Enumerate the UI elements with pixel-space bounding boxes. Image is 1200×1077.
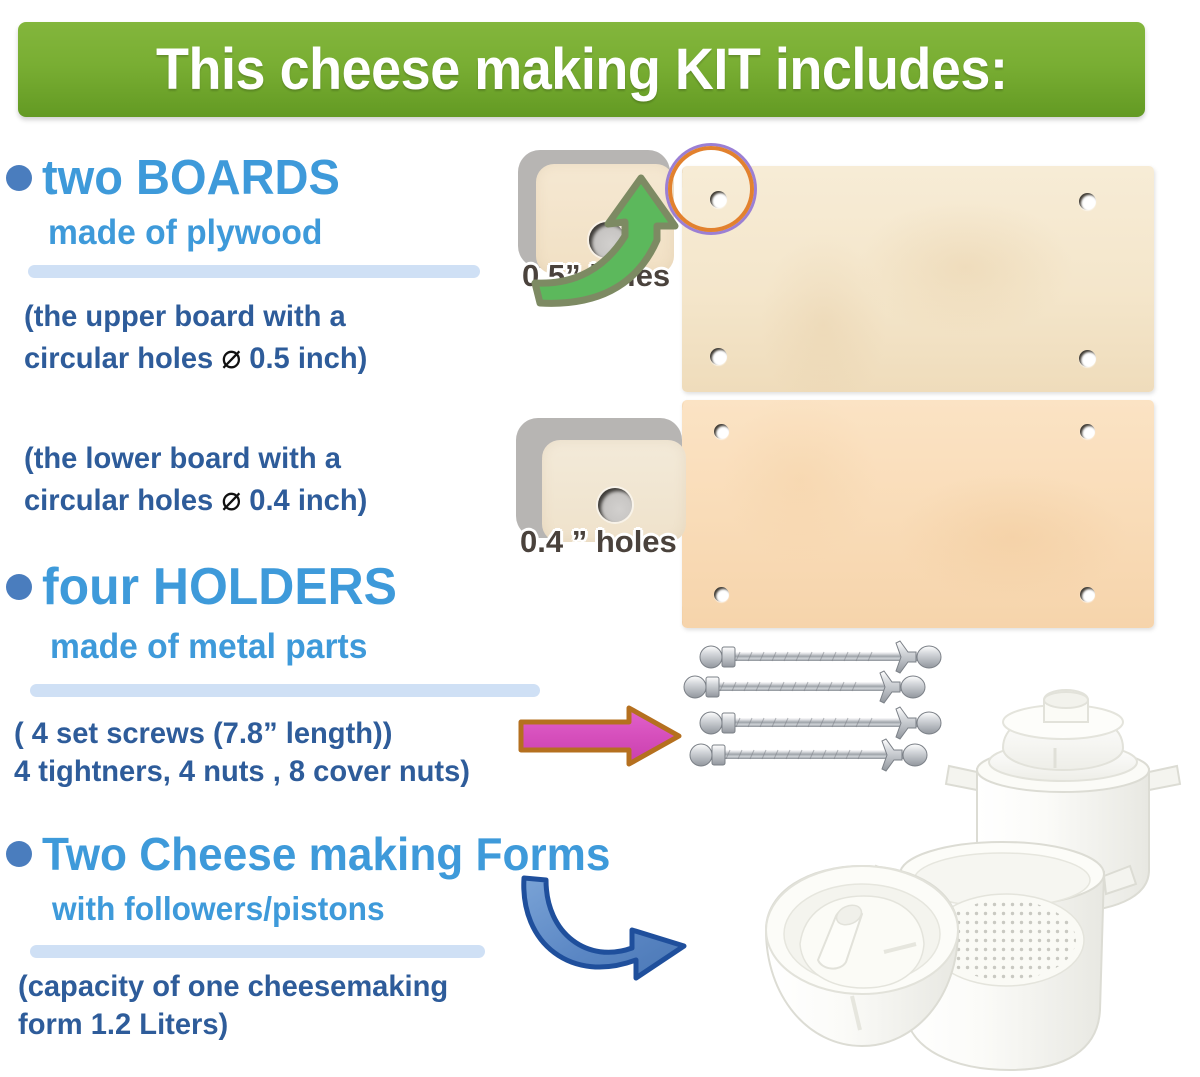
set-screw-assembly <box>690 739 927 771</box>
board-hole <box>1080 587 1095 602</box>
swatch-hole <box>589 222 625 258</box>
board-hole <box>1079 193 1096 210</box>
bullet-item-boards: two BOARDS <box>6 150 352 206</box>
body-capacity: (capacity of one cheesemaking form 1.2 L… <box>18 968 581 1045</box>
body-line-2-pre: circular holes <box>24 484 221 517</box>
bullet-dot-icon <box>6 841 32 867</box>
subheading-made-of-plywood: made of plywood <box>48 213 322 253</box>
board-hole <box>1080 424 1095 439</box>
subheading-made-of-metal-parts: made of metal parts <box>50 627 367 667</box>
diameter-symbol-icon: ⌀ <box>221 337 241 377</box>
section-divider-2 <box>30 684 540 697</box>
heading-two-boards: two BOARDS <box>42 150 340 206</box>
set-screws-group <box>684 641 941 771</box>
heading-two-forms: Two Cheese making Forms <box>42 827 611 881</box>
body-line-1: (the lower board with a <box>24 442 341 475</box>
callout-lower-hole: 0.4 ” holes <box>516 418 706 568</box>
heading-four-holders: four HOLDERS <box>42 557 397 617</box>
body-line-1: (the upper board with a <box>24 300 346 333</box>
board-hole <box>1079 350 1096 367</box>
header-title: This cheese making KIT includes: <box>156 36 1007 103</box>
hole-highlight-ring-icon <box>668 146 754 232</box>
board-hole <box>714 424 729 439</box>
section-divider-1 <box>28 265 480 278</box>
set-screw-assembly <box>684 671 925 703</box>
board-hole <box>714 587 729 602</box>
lower-plywood-board <box>682 400 1154 628</box>
set-screw-assembly <box>700 641 941 673</box>
body-line-2-post: 0.5 inch) <box>241 342 367 375</box>
infographic-canvas: This cheese making KIT includes: two BOA… <box>0 0 1200 1077</box>
body-line-2-pre: circular holes <box>24 342 221 375</box>
callout-label-05: 0.5” holes <box>522 258 670 294</box>
board-hole <box>710 348 727 365</box>
bullet-item-holders: four HOLDERS <box>6 557 412 617</box>
callout-label-04: 0.4 ” holes <box>520 524 677 560</box>
body-upper-board: (the upper board with a circular holes ⌀… <box>24 298 480 380</box>
swatch-hole <box>598 488 632 522</box>
bullet-item-forms: Two Cheese making Forms <box>6 827 634 881</box>
body-lower-board: (the lower board with a circular holes ⌀… <box>24 440 480 522</box>
body-line-2-post: 0.4 inch) <box>241 484 367 517</box>
follower-piston <box>766 866 958 1046</box>
body-line-1: ( 4 set screws (7.8” length)) <box>14 717 392 750</box>
body-line-2: form 1.2 Liters) <box>18 1008 228 1041</box>
bullet-dot-icon <box>6 165 32 191</box>
diameter-symbol-icon: ⌀ <box>221 479 241 519</box>
subheading-with-followers: with followers/pistons <box>52 890 385 928</box>
set-screw-assembly <box>700 707 941 739</box>
upper-plywood-board <box>682 166 1154 392</box>
header-banner: This cheese making KIT includes: <box>18 22 1145 117</box>
body-screws-list: ( 4 set screws (7.8” length)) 4 tightner… <box>14 715 606 792</box>
section-divider-3 <box>30 945 485 958</box>
bullet-dot-icon <box>6 574 32 600</box>
cheese-form-open <box>870 842 1136 1070</box>
body-line-2: 4 tightners, 4 nuts , 8 cover nuts) <box>14 755 470 788</box>
body-line-1: (capacity of one cheesemaking <box>18 970 448 1003</box>
cheese-form-assembled <box>946 690 1180 912</box>
blue-curved-arrow-icon <box>524 878 684 978</box>
